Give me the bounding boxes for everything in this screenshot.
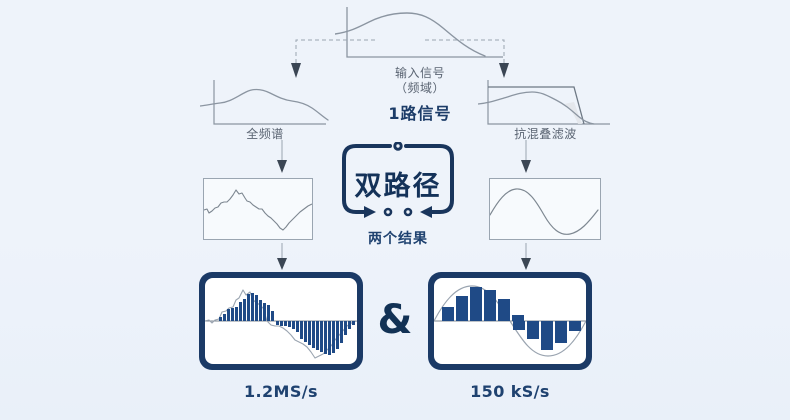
two-results-label: 两个结果 (338, 228, 458, 248)
wideband-waveform-svg (204, 179, 312, 239)
full-spectrum-plot (200, 78, 330, 130)
antialias-filter-svg (478, 78, 613, 130)
one-channel-label: 1路信号 (345, 100, 495, 124)
dual-path-badge[interactable]: 双路径 (338, 142, 458, 224)
bottom-dot-left (385, 209, 391, 215)
arrow-left-to-waveform (275, 140, 289, 174)
low-rate-bars-positive (442, 287, 524, 321)
antialias-filter-caption: 抗混叠滤波 (478, 127, 613, 142)
arrow-right-branch (499, 63, 509, 78)
high-rate-sampling-svg (205, 278, 357, 364)
low-rate-sampling-svg (434, 278, 586, 364)
low-rate-panel (428, 272, 592, 370)
low-rate-label: 150 kS/s (428, 382, 592, 401)
bottom-dot-right (405, 209, 411, 215)
dual-path-label: 双路径 (338, 164, 458, 203)
diagram-canvas: 输入信号 （频域） 1路信号 全频谱 抗混叠滤波 (0, 0, 790, 420)
arrow-left-branch (291, 63, 301, 78)
arrow-inward-right (420, 206, 432, 218)
high-rate-panel-inner (205, 278, 357, 364)
low-rate-bars-negative (513, 321, 581, 350)
ampersand-symbol: & (372, 300, 418, 340)
low-rate-panel-inner (434, 278, 586, 364)
arrow-left-to-waveform-svg (275, 140, 289, 174)
arrow-inward-left (364, 206, 376, 218)
full-spectrum-svg (200, 78, 330, 130)
arrow-left-to-panel-svg (275, 243, 289, 271)
arrow-right-to-waveform-svg (519, 140, 533, 174)
arrow-right-to-panel (519, 243, 533, 271)
arrow-right-to-panel-svg (519, 243, 533, 271)
arrow-left-to-panel (275, 243, 289, 271)
arrow-right-to-waveform (519, 140, 533, 174)
high-rate-bars-positive (219, 293, 274, 321)
filtered-sine-svg (490, 179, 600, 239)
wideband-waveform-box (203, 178, 313, 240)
top-dot (395, 143, 401, 149)
filtered-sine-box (489, 178, 601, 240)
high-rate-panel (199, 272, 363, 370)
full-spectrum-caption: 全频谱 (200, 127, 330, 142)
high-rate-bars-negative (276, 321, 355, 355)
antialias-filter-plot (478, 78, 613, 130)
high-rate-label: 1.2MS/s (199, 382, 363, 401)
